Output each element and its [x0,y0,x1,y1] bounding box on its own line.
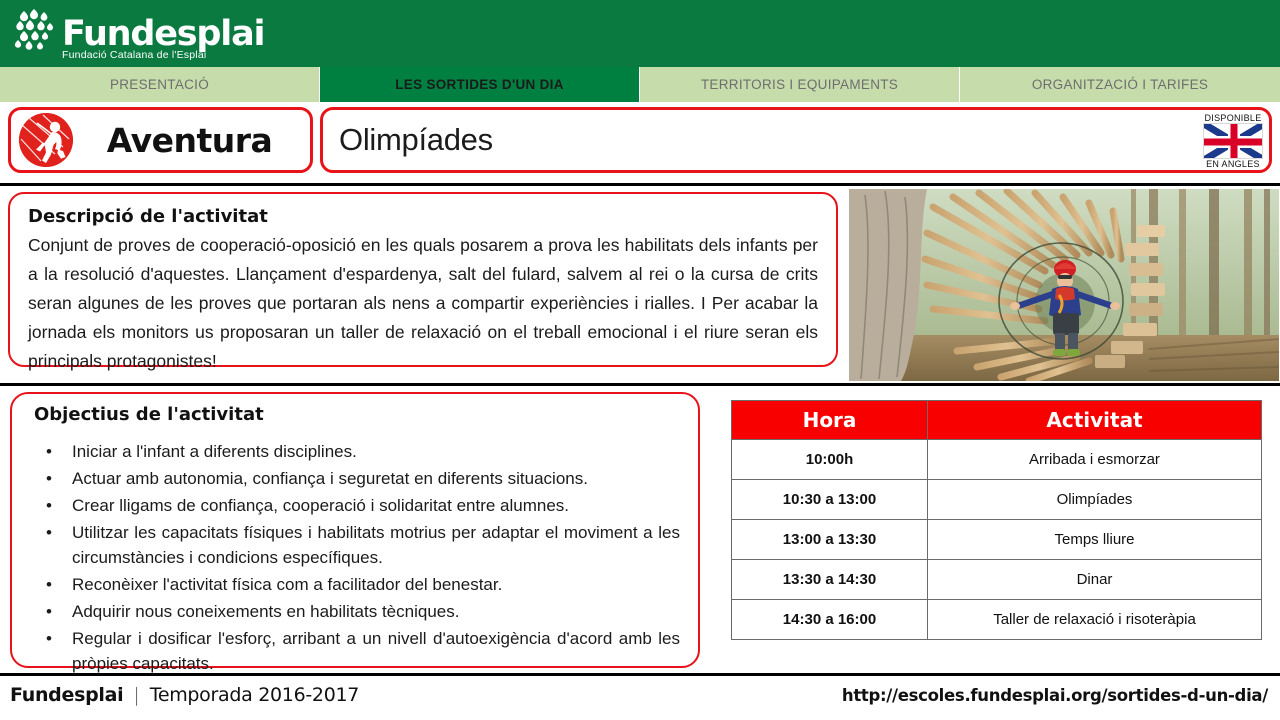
list-item: Adquirir nous coneixements en habilitats… [34,599,680,624]
footer-separator: | [133,684,139,706]
list-item: Utilitzar les capacitats físiques i habi… [34,520,680,570]
slide-page: Fundesplai Fundació Catalana de l'Esplai… [0,0,1280,720]
uk-flag-icon [1203,123,1263,159]
list-item: Iniciar a l'infant a diferents disciplin… [34,439,680,464]
cell-hora: 13:30 a 14:30 [732,560,928,600]
page-footer: Fundesplai | Temporada 2016-2017 http://… [0,676,1280,720]
list-item: Actuar amb autonomia, confiança i segure… [34,466,680,491]
table-row: 13:30 a 14:30 Dinar [732,560,1262,600]
category-badge[interactable]: Aventura [8,107,313,173]
list-item: Regular i dosificar l'esforç, arribant a… [34,626,680,676]
main-navigation: PRESENTACIÓ LES SORTIDES D'UN DIA TERRIT… [0,67,1280,102]
activity-name-box[interactable]: Olimpíades [320,107,1272,173]
list-item: Reconèixer l'activitat física com a faci… [34,572,680,597]
cell-activitat: Dinar [928,560,1262,600]
cell-hora: 14:30 a 16:00 [732,600,928,640]
cell-hora: 10:30 a 13:00 [732,480,928,520]
cell-hora: 10:00h [732,440,928,480]
table-header-row: Hora Activitat [732,401,1262,440]
badge-caption-bottom: EN ANGLES [1206,159,1260,169]
fundesplai-logo[interactable]: Fundesplai Fundació Catalana de l'Esplai [14,9,264,59]
site-header: Fundesplai Fundació Catalana de l'Esplai [0,0,1280,67]
droplet-cluster-icon [14,9,58,59]
schedule-table: Hora Activitat 10:00h Arribada i esmorza… [731,400,1262,640]
cell-activitat: Olimpíades [928,480,1262,520]
tab-organitzacio-i-tarifes[interactable]: ORGANITZACIÓ I TARIFES [960,67,1280,102]
cell-activitat: Arribada i esmorzar [928,440,1262,480]
objectives-panel: Objectius de l'activitat Iniciar a l'inf… [10,392,700,668]
cell-activitat: Temps lliure [928,520,1262,560]
english-available-badge: DISPONIBLE EN ANGLES [1200,110,1266,172]
activity-title-band: Aventura Olimpíades DISPONIBLE EN ANGLES [0,102,1280,183]
table-row: 14:30 a 16:00 Taller de relaxació i riso… [732,600,1262,640]
category-label: Aventura [73,121,310,160]
divider-middle [0,383,1280,386]
tab-territoris-i-equipaments[interactable]: TERRITORIS I EQUIPAMENTS [640,67,960,102]
description-text: Conjunt de proves de cooperació-oposició… [28,231,818,376]
tab-presentacio[interactable]: PRESENTACIÓ [0,67,320,102]
column-header-activitat: Activitat [928,401,1262,440]
footer-brand: Fundesplai [10,684,123,706]
activity-name: Olimpíades [339,122,493,158]
objectives-heading: Objectius de l'activitat [34,404,680,425]
badge-caption-top: DISPONIBLE [1204,113,1261,123]
climber-icon [19,113,73,167]
tab-les-sortides-dun-dia[interactable]: LES SORTIDES D'UN DIA [320,67,640,102]
activity-photo [849,189,1279,381]
footer-url[interactable]: http://escoles.fundesplai.org/sortides-d… [842,686,1268,705]
list-item: Crear lligams de confiança, cooperació i… [34,493,680,518]
objectives-list: Iniciar a l'infant a diferents disciplin… [34,439,680,676]
column-header-hora: Hora [732,401,928,440]
divider-top [0,183,1280,186]
description-panel: Descripció de l'activitat Conjunt de pro… [8,192,838,367]
footer-left: Fundesplai | Temporada 2016-2017 [10,684,359,706]
table-row: 10:30 a 13:00 Olimpíades [732,480,1262,520]
cell-hora: 13:00 a 13:30 [732,520,928,560]
description-heading: Descripció de l'activitat [28,206,818,227]
table-row: 13:00 a 13:30 Temps lliure [732,520,1262,560]
footer-season: Temporada 2016-2017 [150,684,359,706]
cell-activitat: Taller de relaxació i risoteràpia [928,600,1262,640]
logo-wordmark: Fundesplai [62,16,264,52]
table-row: 10:00h Arribada i esmorzar [732,440,1262,480]
